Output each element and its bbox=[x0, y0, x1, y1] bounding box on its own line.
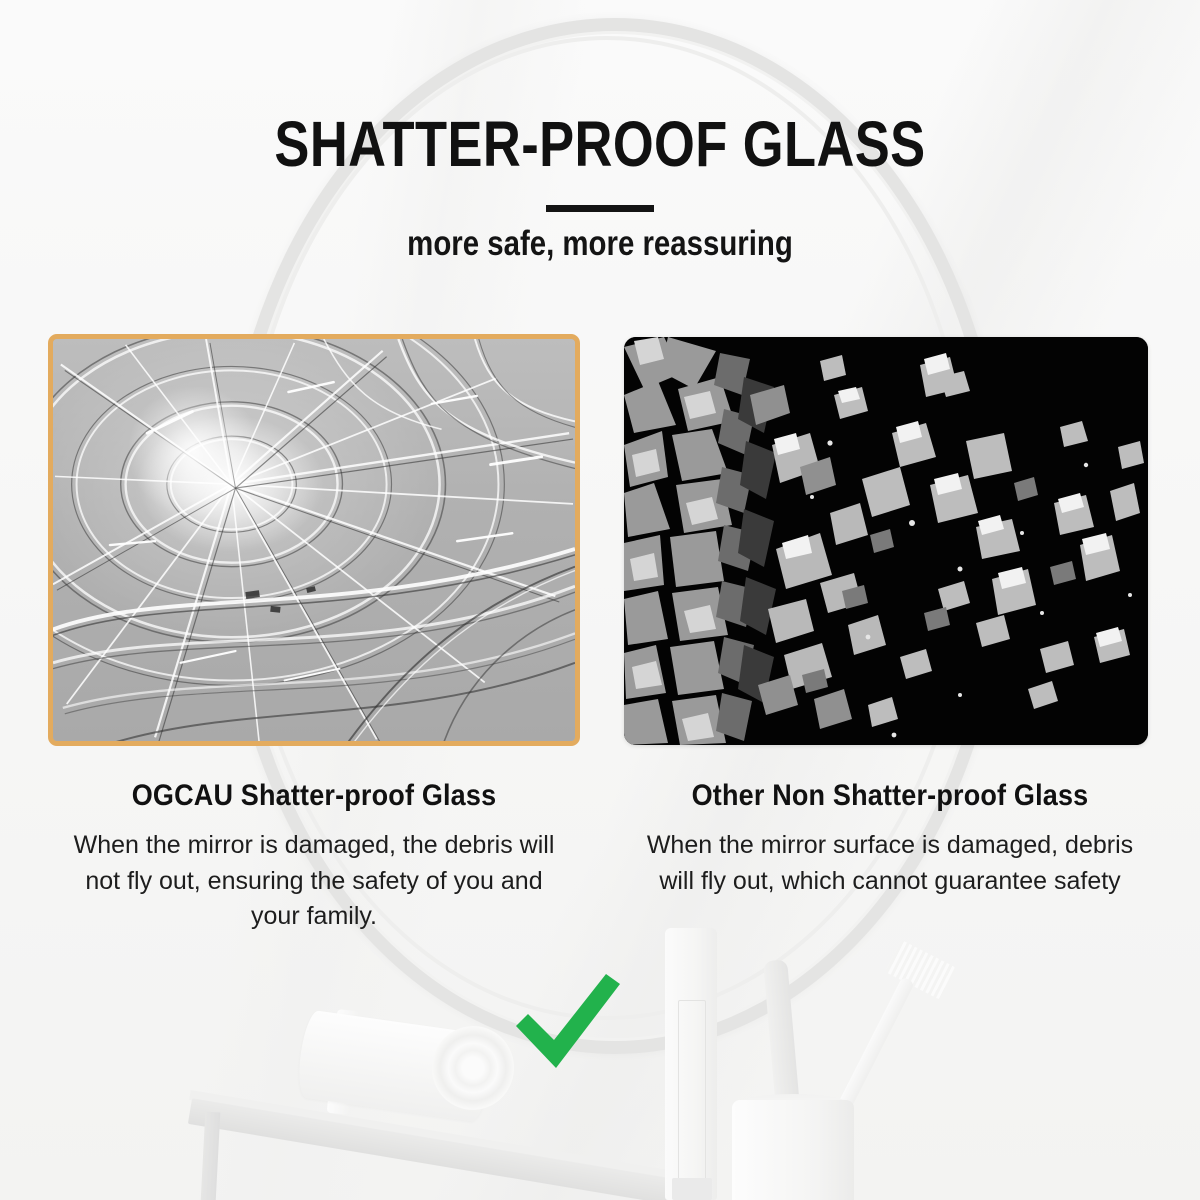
glass-crack-pattern bbox=[53, 339, 575, 743]
caption-shatter-proof: OGCAU Shatter-proof Glass When the mirro… bbox=[44, 778, 584, 935]
shatter-proof-photo-frame bbox=[48, 334, 580, 746]
comparison-section bbox=[0, 0, 1200, 1200]
panel-non-shatter-proof bbox=[624, 337, 1148, 745]
caption-body-bad: When the mirror surface is damaged, debr… bbox=[620, 828, 1160, 899]
green-check-icon bbox=[510, 970, 622, 1072]
panel-shatter-proof bbox=[48, 334, 580, 746]
caption-non-shatter-proof: Other Non Shatter-proof Glass When the m… bbox=[620, 778, 1160, 899]
non-shatter-proof-photo-frame bbox=[624, 337, 1148, 745]
flying-glass-shards-image bbox=[624, 337, 1148, 745]
caption-heading-bad: Other Non Shatter-proof Glass bbox=[647, 778, 1133, 814]
caption-heading-good: OGCAU Shatter-proof Glass bbox=[71, 778, 557, 814]
caption-body-good: When the mirror is damaged, the debris w… bbox=[44, 828, 584, 935]
